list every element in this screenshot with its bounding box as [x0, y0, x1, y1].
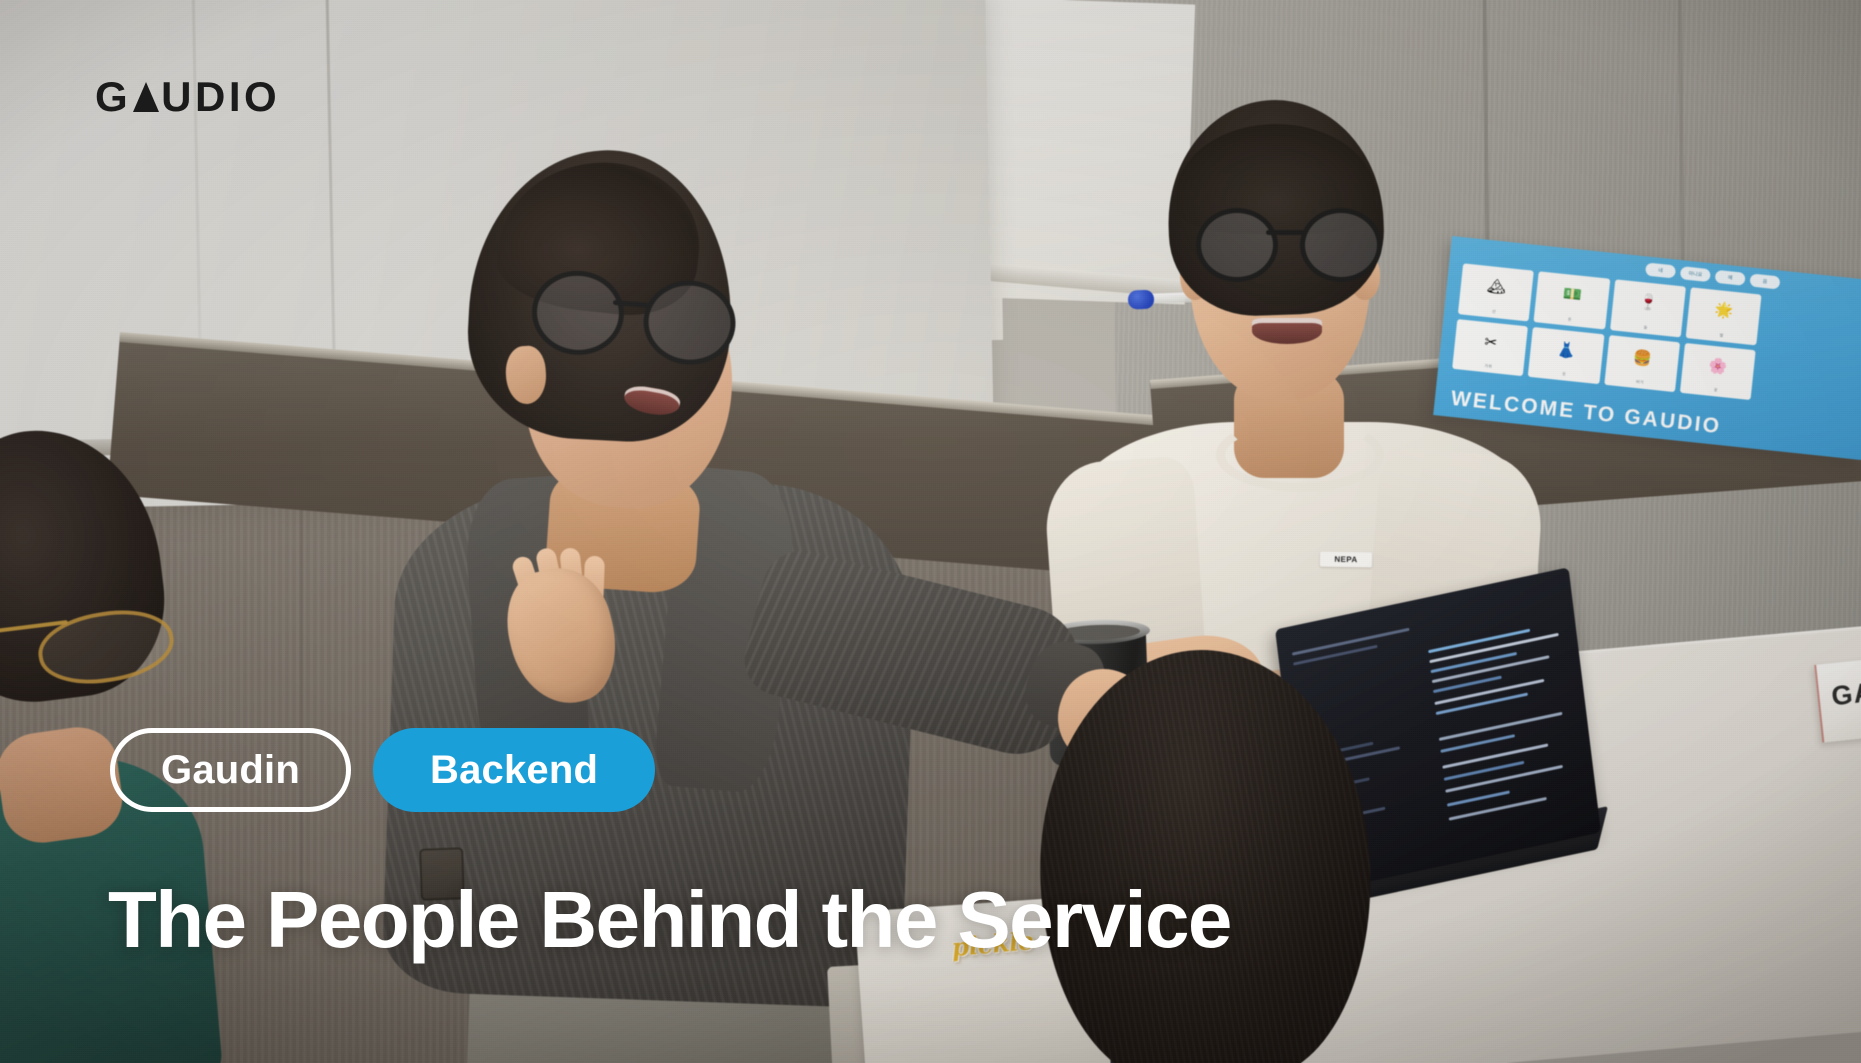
- person-right-glasses: [1196, 208, 1372, 274]
- tag-row: Gaudin Backend: [110, 728, 655, 812]
- poster-card-caption: 버거: [1604, 376, 1675, 389]
- tag-backend[interactable]: Backend: [373, 728, 655, 812]
- glasses-lens-left: [528, 267, 627, 359]
- poster-card-icon: 🍷: [1638, 295, 1658, 312]
- glasses-bridge: [1266, 230, 1304, 235]
- poster-chip: 음: [1749, 273, 1780, 289]
- person-right-collar: [1216, 418, 1384, 492]
- poster-chip: 아니요: [1680, 266, 1711, 282]
- poster-card-icon: 🍔: [1632, 350, 1652, 367]
- poster-card: 🌟 별: [1685, 287, 1761, 345]
- glasses-lens-right: [1300, 208, 1382, 282]
- poster-card-icon: 🌸: [1708, 358, 1728, 375]
- tag-gaudin[interactable]: Gaudin: [110, 728, 351, 812]
- poster-chip: 네: [1645, 262, 1676, 278]
- hero-banner: 네 아니요 예 음 🏔 산 💵 돈 🍷 술 🌟: [0, 0, 1861, 1063]
- person-right-smile: [1252, 318, 1322, 344]
- page-title: The People Behind the Service: [108, 880, 1231, 960]
- poster-card-caption: 꽃: [1680, 384, 1751, 397]
- poster-card-caption: 별: [1686, 329, 1757, 342]
- poster-card: 🍷 술: [1610, 279, 1686, 337]
- poster-chip: 예: [1715, 270, 1746, 286]
- poster-card: 🌸 꽃: [1680, 342, 1756, 400]
- poster-card-icon: 🌟: [1714, 303, 1734, 320]
- glasses-lens-right: [640, 277, 739, 369]
- table-sign: GA: [1814, 655, 1861, 742]
- glasses-lens-left: [1196, 208, 1278, 282]
- shirt-brand-label: NEPA: [1320, 552, 1372, 568]
- table-sign-text: GA: [1830, 677, 1861, 712]
- logo-text-part-1: G: [95, 76, 131, 118]
- logo-text-part-2: UDIO: [161, 76, 280, 118]
- poster-card-caption: 술: [1610, 321, 1681, 334]
- gaudio-logo[interactable]: GUDIO: [95, 76, 280, 118]
- logo-letter-a-triangle-icon: [133, 82, 160, 112]
- poster-card: 🍔 버거: [1604, 334, 1680, 392]
- felt-seam-secondary: [300, 470, 303, 900]
